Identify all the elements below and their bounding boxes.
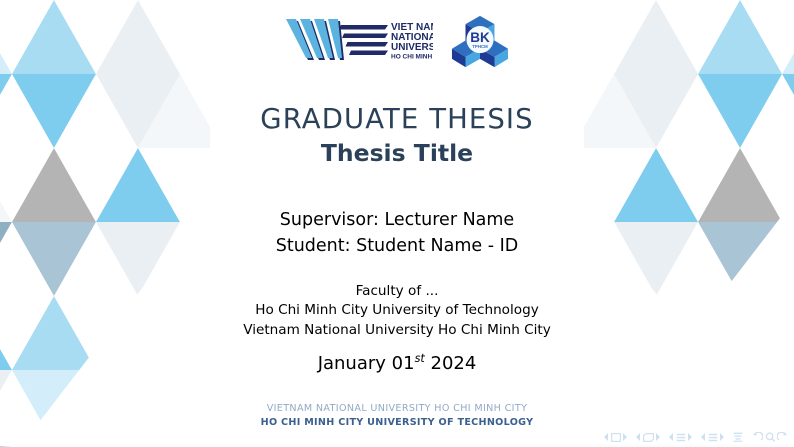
- next-section-arrow-icon[interactable]: [719, 433, 724, 441]
- people-block: Supervisor: Lecturer Name Student: Stude…: [0, 208, 794, 260]
- section-nav-group[interactable]: [701, 433, 724, 442]
- undo-arrow-icon[interactable]: [752, 432, 763, 442]
- bk-logo-initials: BK: [470, 30, 490, 45]
- supervisor-line: Supervisor: Lecturer Name: [0, 208, 794, 234]
- footer-national-university: VIETNAM NATIONAL UNIVERSITY HO CHI MINH …: [0, 402, 794, 416]
- vnu-logo-line-2: NATIONAL: [391, 32, 433, 43]
- magnifier-icon[interactable]: [765, 432, 776, 442]
- date-block: January 01st 2024: [0, 353, 794, 374]
- vnu-logo-line-3: UNIVERSITY: [391, 42, 433, 53]
- frame-nav-group[interactable]: [636, 433, 660, 442]
- page-subtitle: Thesis Title: [0, 138, 794, 169]
- vietnam-national-university-logo: VIET NAM NATIONAL UNIVERSITY HO CHI MINH…: [285, 17, 433, 67]
- presentation-nav-group[interactable]: [733, 432, 743, 442]
- section-icon[interactable]: [708, 433, 718, 442]
- presentation-icon[interactable]: [733, 432, 743, 442]
- student-line: Student: Student Name - ID: [0, 234, 794, 260]
- national-university-line: Vietnam National University Ho Chi Minh …: [0, 321, 794, 340]
- slide-nav-group[interactable]: [604, 433, 627, 442]
- footer-block: VIETNAM NATIONAL UNIVERSITY HO CHI MINH …: [0, 402, 794, 429]
- prev-subsection-arrow-icon[interactable]: [669, 433, 674, 441]
- affiliation-block: Faculty of ... Ho Chi Minh City Universi…: [0, 282, 794, 340]
- university-line: Ho Chi Minh City University of Technolog…: [0, 301, 794, 320]
- redo-arrow-icon[interactable]: [777, 432, 788, 442]
- date-day: 01: [392, 353, 415, 374]
- presentation-slide: VIET NAM NATIONAL UNIVERSITY HO CHI MINH…: [0, 0, 794, 447]
- prev-frame-arrow-icon[interactable]: [636, 433, 641, 441]
- vnu-logo-line-1: VIET NAM: [391, 22, 433, 33]
- bach-khoa-university-logo: BK TPHCM: [451, 13, 509, 71]
- footer-university: HO CHI MINH CITY UNIVERSITY OF TECHNOLOG…: [0, 416, 794, 430]
- date-year: 2024: [431, 353, 477, 374]
- date-month: January: [318, 353, 386, 374]
- logo-row: VIET NAM NATIONAL UNIVERSITY HO CHI MINH…: [0, 10, 794, 74]
- page-title: GRADUATE THESIS: [0, 104, 794, 135]
- subsection-icon[interactable]: [676, 433, 686, 442]
- title-block: GRADUATE THESIS Thesis Title: [0, 104, 794, 169]
- next-slide-arrow-icon[interactable]: [622, 433, 627, 441]
- vnu-logo-line-4: HO CHI MINH CITY: [391, 54, 433, 61]
- next-frame-arrow-icon[interactable]: [655, 433, 660, 441]
- faculty-line: Faculty of ...: [0, 282, 794, 301]
- prev-section-arrow-icon[interactable]: [701, 433, 706, 441]
- history-nav-group[interactable]: [752, 432, 788, 442]
- prev-slide-arrow-icon[interactable]: [604, 433, 609, 441]
- slide-box-icon[interactable]: [611, 433, 621, 442]
- subsection-nav-group[interactable]: [669, 433, 692, 442]
- beamer-navigation-bar[interactable]: [604, 430, 788, 444]
- frame-box-icon[interactable]: [643, 433, 654, 442]
- date-ordinal-suffix: st: [415, 352, 425, 365]
- bk-logo-subtitle: TPHCM: [472, 44, 488, 49]
- next-subsection-arrow-icon[interactable]: [687, 433, 692, 441]
